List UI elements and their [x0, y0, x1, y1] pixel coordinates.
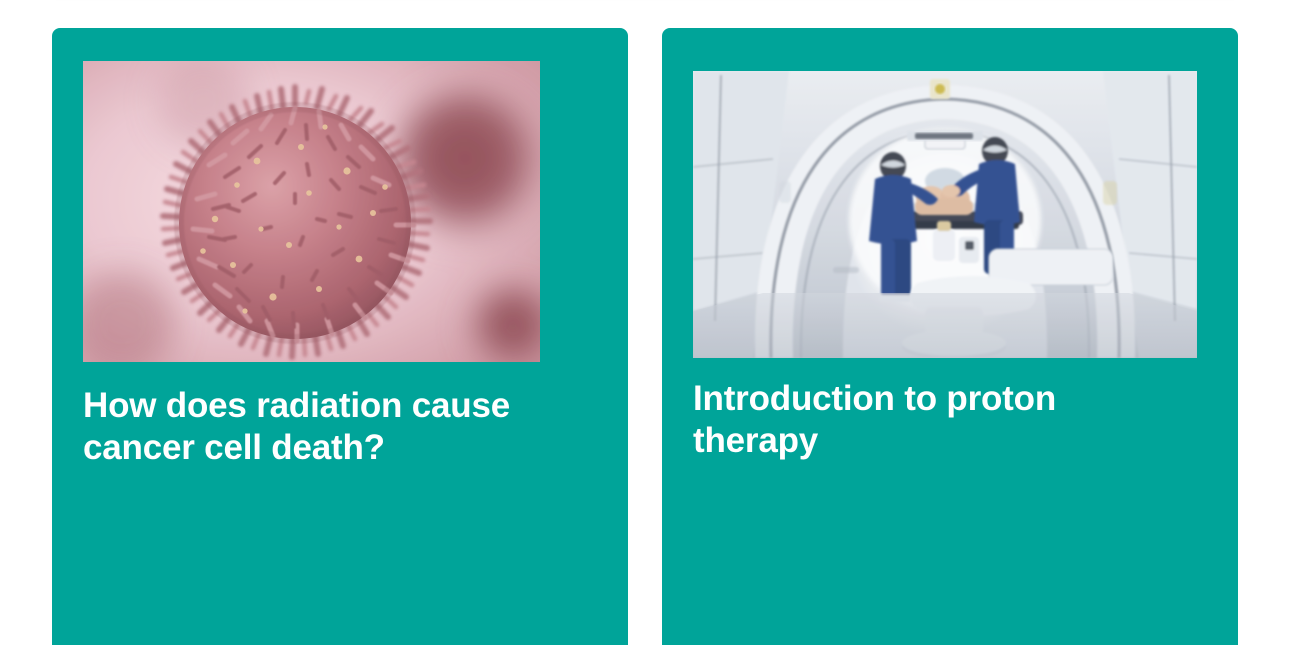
cards-page: How does radiation cause cancer cell dea… [0, 0, 1290, 645]
card-title: Introduction to proton therapy [693, 378, 1173, 462]
content-card-radiation[interactable]: How does radiation cause cancer cell dea… [52, 28, 628, 645]
card-title: How does radiation cause cancer cell dea… [83, 385, 563, 469]
previous-row-edge [52, 0, 1238, 1]
proton-therapy-treatment-room-photo[interactable] [693, 71, 1197, 358]
cancer-cell-microscopy-image[interactable] [83, 61, 540, 362]
card-grid: How does radiation cause cancer cell dea… [52, 28, 1238, 645]
content-card-proton-therapy[interactable]: Introduction to proton therapy [662, 28, 1238, 645]
